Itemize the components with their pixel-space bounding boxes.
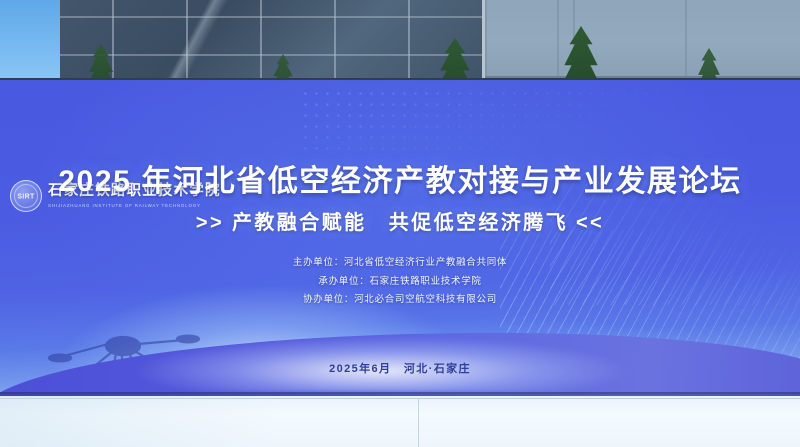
organizer-list: 主办单位：河北省低空经济行业产教融合共同体 承办单位：石家庄铁路职业技术学院 协… xyxy=(0,254,800,310)
banner-subtitle: >> 产教融合赋能 共促低空经济腾飞 << xyxy=(0,206,800,235)
date-location: 2025年6月 河北·石家庄 xyxy=(0,360,800,376)
banner-title: 2025 年河北省低空经济产教对接与产业发展论坛 xyxy=(0,156,800,200)
organizer-line: 主办单位：河北省低空经济行业产教融合共同体 xyxy=(0,254,800,273)
dot-texture-top xyxy=(300,88,720,158)
organizer-line: 承办单位：石家庄铁路职业技术学院 xyxy=(0,273,800,292)
lower-wall xyxy=(0,396,800,447)
concrete-wall xyxy=(485,0,800,82)
organizer-line: 协办单位：河北必合司空航空科技有限公司 xyxy=(0,291,800,310)
light-glow-sweep xyxy=(120,322,740,392)
event-banner: SIRT 石家庄铁路职业技术学院 SHIJIAZHUANG INSTITUTE … xyxy=(0,80,800,398)
glass-curtain-wall xyxy=(60,0,485,88)
screenshot-scene: SIRT 石家庄铁路职业技术学院 SHIJIAZHUANG INSTITUTE … xyxy=(0,0,800,447)
